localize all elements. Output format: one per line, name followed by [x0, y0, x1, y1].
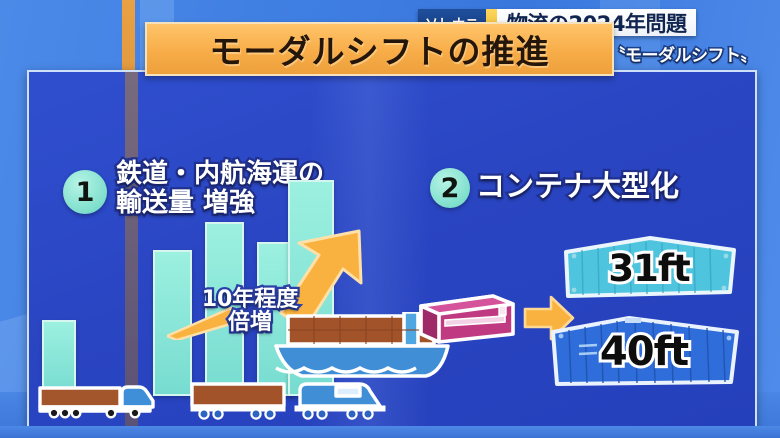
panel-backdrop-pillar: [125, 72, 138, 428]
screenshot-root: ソレナニ 物流の2024年問題 鍵を握る〝モーダルシフト〟 モーダルシフトの推進…: [0, 0, 780, 438]
panel-title-text: モーダルシフトの推進: [210, 25, 550, 73]
freight-train-icon: [188, 378, 390, 422]
item-1-number-badge: 1: [63, 170, 107, 214]
item-1-heading-line1: 鉄道・内航海運の: [116, 160, 416, 189]
item-1-heading-line2: 輸送量 増強: [116, 189, 416, 218]
container-40ft-label: 40ft: [600, 329, 688, 375]
small-container-icon: [415, 290, 519, 346]
item-2-number-badge: 2: [430, 168, 470, 208]
bottom-edge-bar: [0, 426, 780, 438]
panel-title-banner: モーダルシフトの推進: [145, 22, 614, 76]
item-1-heading: 鉄道・内航海運の 輸送量 増強: [116, 160, 416, 218]
container-31ft: 31ft: [558, 234, 740, 302]
item-2-number: 2: [441, 173, 460, 204]
truck-icon: [36, 383, 166, 419]
item-2-heading: コンテナ大型化: [476, 170, 736, 202]
container-31ft-label: 31ft: [608, 247, 689, 290]
chart-annotation-line1: 10年程度: [202, 287, 299, 312]
container-40ft: 40ft: [545, 312, 743, 392]
item-1-number: 1: [76, 177, 95, 208]
